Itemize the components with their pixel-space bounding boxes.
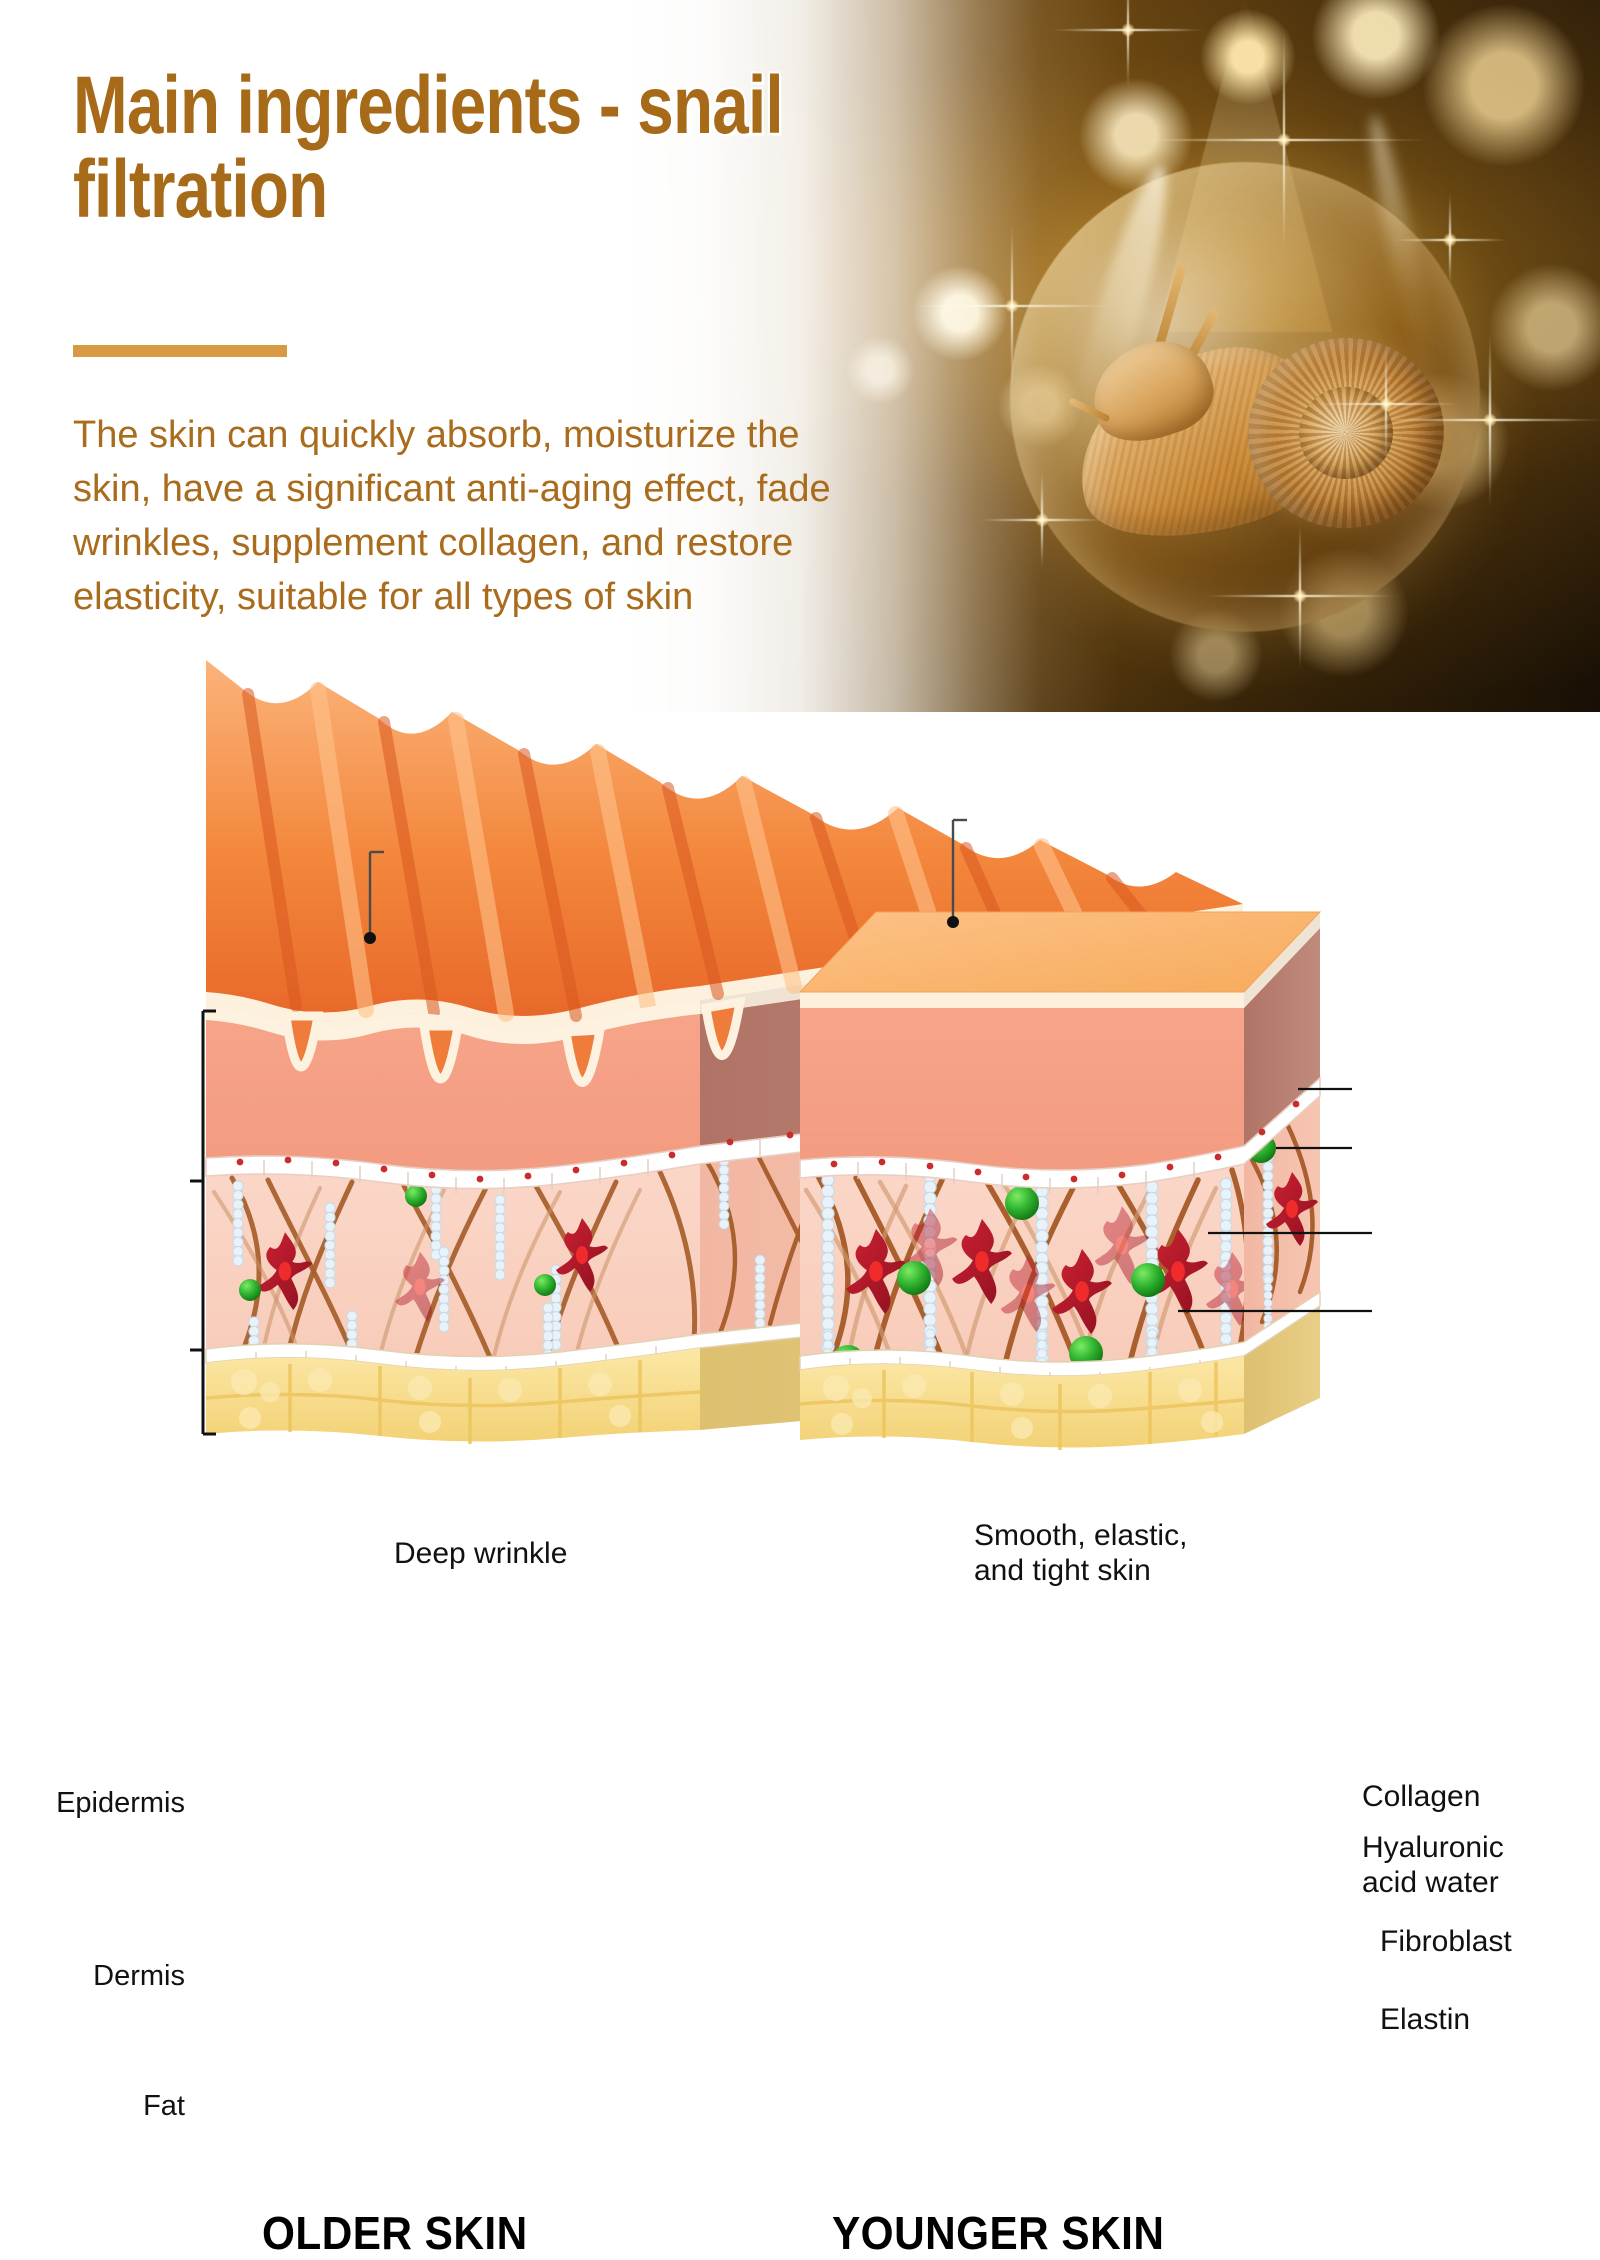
deep-wrinkle-anchor-dot (364, 932, 376, 944)
hero-body-text: The skin can quickly absorb, moisturize … (73, 409, 853, 625)
page-title: Main ingredients - snail filtration (73, 64, 873, 231)
title-underline-rule (73, 345, 287, 357)
callout-deep-wrinkle: Deep wrinkle (394, 1536, 567, 1571)
layer-label-epidermis: Epidermis (0, 1787, 185, 1820)
skin-cross-section-illustration (0, 712, 1600, 1600)
young-smooth-surface (800, 912, 1320, 992)
feature-label-elastin: Elastin (1380, 2002, 1470, 2037)
layer-label-fat: Fat (0, 2090, 185, 2123)
feature-label-hyaluronic: Hyaluronic acid water (1362, 1830, 1504, 1900)
layer-label-dermis: Dermis (0, 1960, 185, 1993)
feature-label-fibroblast: Fibroblast (1380, 1924, 1512, 1959)
skin-comparison-diagram: Epidermis Dermis Fat Deep wrinkle Smooth… (0, 712, 1600, 1600)
caption-younger-skin: YOUNGER SKIN (832, 2206, 1164, 2260)
hero-banner: Main ingredients - snail filtration The … (0, 0, 1600, 712)
smooth-skin-anchor-dot (947, 916, 959, 928)
younger-skin-block (800, 820, 1372, 1450)
young-epidermis-band (800, 992, 1244, 1008)
caption-older-skin: OLDER SKIN (262, 2206, 528, 2260)
callout-smooth-skin: Smooth, elastic, and tight skin (974, 1518, 1187, 1588)
feature-label-collagen: Collagen (1362, 1779, 1480, 1814)
